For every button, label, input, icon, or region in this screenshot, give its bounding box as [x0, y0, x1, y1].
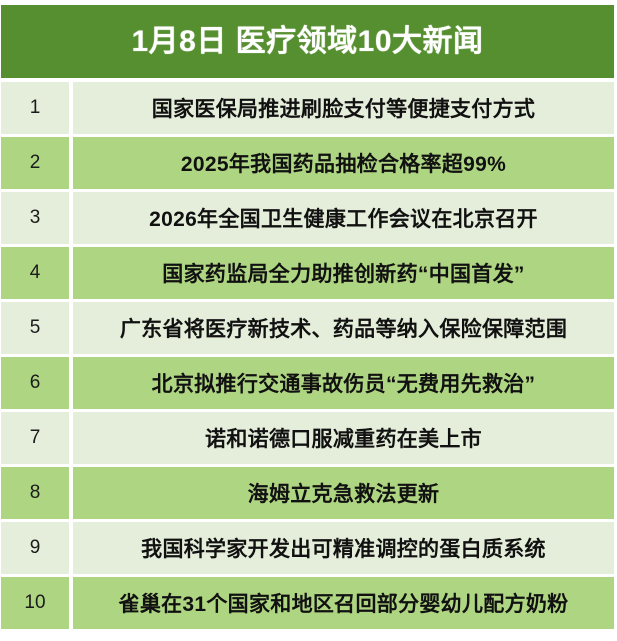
news-ranking-board: 1月8日 医疗领域10大新闻 1国家医保局推进刷脸支付等便捷支付方式22025年…: [0, 0, 617, 641]
row-rank: 2: [1, 137, 69, 189]
row-headline[interactable]: 国家药监局全力助推创新药“中国首发”: [73, 247, 614, 299]
row-headline[interactable]: 海姆立克急救法更新: [73, 467, 614, 519]
row-rank: 7: [1, 412, 69, 464]
table-row[interactable]: 22025年我国药品抽检合格率超99%: [1, 137, 614, 189]
page-title: 1月8日 医疗领域10大新闻: [131, 27, 483, 57]
table-row[interactable]: 6北京拟推行交通事故伤员“无费用先救治”: [1, 357, 614, 409]
row-rank: 8: [1, 467, 69, 519]
table-row[interactable]: 8海姆立克急救法更新: [1, 467, 614, 519]
table-row[interactable]: 5广东省将医疗新技术、药品等纳入保险保障范围: [1, 302, 614, 354]
row-rank: 5: [1, 302, 69, 354]
header-banner: 1月8日 医疗领域10大新闻: [1, 5, 614, 78]
news-list: 1国家医保局推进刷脸支付等便捷支付方式22025年我国药品抽检合格率超99%32…: [1, 82, 617, 629]
row-headline[interactable]: 国家医保局推进刷脸支付等便捷支付方式: [73, 82, 614, 134]
row-headline[interactable]: 2026年全国卫生健康工作会议在北京召开: [73, 192, 614, 244]
table-row[interactable]: 4国家药监局全力助推创新药“中国首发”: [1, 247, 614, 299]
row-headline[interactable]: 广东省将医疗新技术、药品等纳入保险保障范围: [73, 302, 614, 354]
table-row[interactable]: 10雀巢在31个国家和地区召回部分婴幼儿配方奶粉: [1, 577, 614, 629]
row-rank: 1: [1, 82, 69, 134]
table-row[interactable]: 7诺和诺德口服减重药在美上市: [1, 412, 614, 464]
row-rank: 10: [1, 577, 69, 629]
row-rank: 9: [1, 522, 69, 574]
row-headline[interactable]: 2025年我国药品抽检合格率超99%: [73, 137, 614, 189]
table-row[interactable]: 32026年全国卫生健康工作会议在北京召开: [1, 192, 614, 244]
row-rank: 4: [1, 247, 69, 299]
table-row[interactable]: 1国家医保局推进刷脸支付等便捷支付方式: [1, 82, 614, 134]
row-headline[interactable]: 诺和诺德口服减重药在美上市: [73, 412, 614, 464]
row-headline[interactable]: 雀巢在31个国家和地区召回部分婴幼儿配方奶粉: [73, 577, 614, 629]
table-row[interactable]: 9我国科学家开发出可精准调控的蛋白质系统: [1, 522, 614, 574]
row-rank: 3: [1, 192, 69, 244]
row-headline[interactable]: 北京拟推行交通事故伤员“无费用先救治”: [73, 357, 614, 409]
row-headline[interactable]: 我国科学家开发出可精准调控的蛋白质系统: [73, 522, 614, 574]
row-rank: 6: [1, 357, 69, 409]
